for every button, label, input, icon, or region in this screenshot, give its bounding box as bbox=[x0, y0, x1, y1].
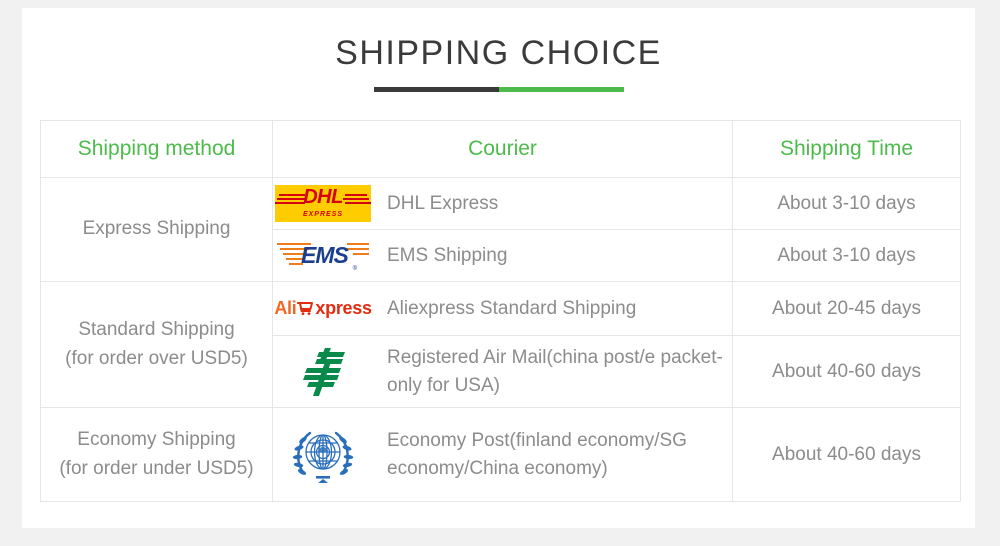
title-underline-green bbox=[499, 87, 624, 92]
shopping-cart-icon bbox=[297, 300, 314, 316]
time-cell: About 20-45 days bbox=[733, 282, 961, 336]
table-row: Standard Shipping (for order over USD5) … bbox=[41, 282, 961, 336]
courier-cell-economy-post: Economy Post(finland economy/SG economy/… bbox=[273, 408, 733, 502]
china-post-logo bbox=[273, 346, 373, 398]
shipping-table-wrap: Shipping method Courier Shipping Time Ex… bbox=[40, 120, 960, 502]
time-cell: About 40-60 days bbox=[733, 408, 961, 502]
column-header-shipping-time: Shipping Time bbox=[733, 121, 961, 178]
courier-cell-dhl: DHL EXPRESS DHL Express bbox=[273, 178, 733, 230]
time-cell: About 3-10 days bbox=[733, 178, 961, 230]
method-cell-standard: Standard Shipping (for order over USD5) bbox=[41, 282, 273, 408]
courier-label: Economy Post(finland economy/SG economy/… bbox=[387, 427, 732, 482]
courier-label: DHL Express bbox=[387, 190, 498, 218]
title-underline-dark bbox=[374, 87, 499, 92]
ems-logo-wordmark: EMS bbox=[301, 242, 348, 268]
aliexpress-logo-part1: Ali bbox=[274, 298, 296, 318]
courier-cell-china-post: Registered Air Mail(china post/e packet-… bbox=[273, 336, 733, 408]
title-block: SHIPPING CHOICE bbox=[22, 8, 975, 92]
method-label-line2: (for order under USD5) bbox=[59, 458, 253, 479]
ems-logo: EMS ® bbox=[273, 238, 373, 274]
column-header-courier: Courier bbox=[273, 121, 733, 178]
column-header-shipping-method: Shipping method bbox=[41, 121, 273, 178]
table-row: Express Shipping bbox=[41, 178, 961, 230]
table-header: Shipping method Courier Shipping Time bbox=[41, 121, 961, 178]
page-title: SHIPPING CHOICE bbox=[22, 32, 975, 75]
table-row: Economy Shipping (for order under USD5) bbox=[41, 408, 961, 502]
courier-cell-ems: EMS ® EMS Shipping bbox=[273, 230, 733, 282]
shipping-table: Shipping method Courier Shipping Time Ex… bbox=[40, 120, 961, 502]
aliexpress-logo: Ali xpress bbox=[273, 298, 373, 318]
method-cell-express: Express Shipping bbox=[41, 178, 273, 282]
united-nations-logo bbox=[273, 424, 373, 486]
page-panel: SHIPPING CHOICE Shipping method Courier … bbox=[22, 8, 975, 528]
courier-label: Aliexpress Standard Shipping bbox=[387, 295, 636, 323]
time-cell: About 3-10 days bbox=[733, 230, 961, 282]
title-underline bbox=[374, 87, 624, 92]
dhl-logo-wordmark: DHL bbox=[275, 187, 371, 207]
table-header-row: Shipping method Courier Shipping Time bbox=[41, 121, 961, 178]
aliexpress-logo-part2: xpress bbox=[315, 298, 371, 318]
table-body: Express Shipping bbox=[41, 178, 961, 502]
time-cell: About 40-60 days bbox=[733, 336, 961, 408]
dhl-logo: DHL EXPRESS bbox=[273, 185, 373, 222]
courier-label: EMS Shipping bbox=[387, 242, 507, 270]
method-label-line2: (for order over USD5) bbox=[65, 348, 248, 369]
courier-label: Registered Air Mail(china post/e packet-… bbox=[387, 344, 732, 399]
method-label-line1: Economy Shipping bbox=[77, 429, 235, 450]
courier-cell-aliexpress: Ali xpress bbox=[273, 282, 733, 336]
method-label-line1: Standard Shipping bbox=[78, 319, 234, 340]
ems-logo-registered-mark: ® bbox=[353, 266, 357, 272]
method-cell-economy: Economy Shipping (for order under USD5) bbox=[41, 408, 273, 502]
dhl-logo-subtitle: EXPRESS bbox=[275, 211, 371, 219]
